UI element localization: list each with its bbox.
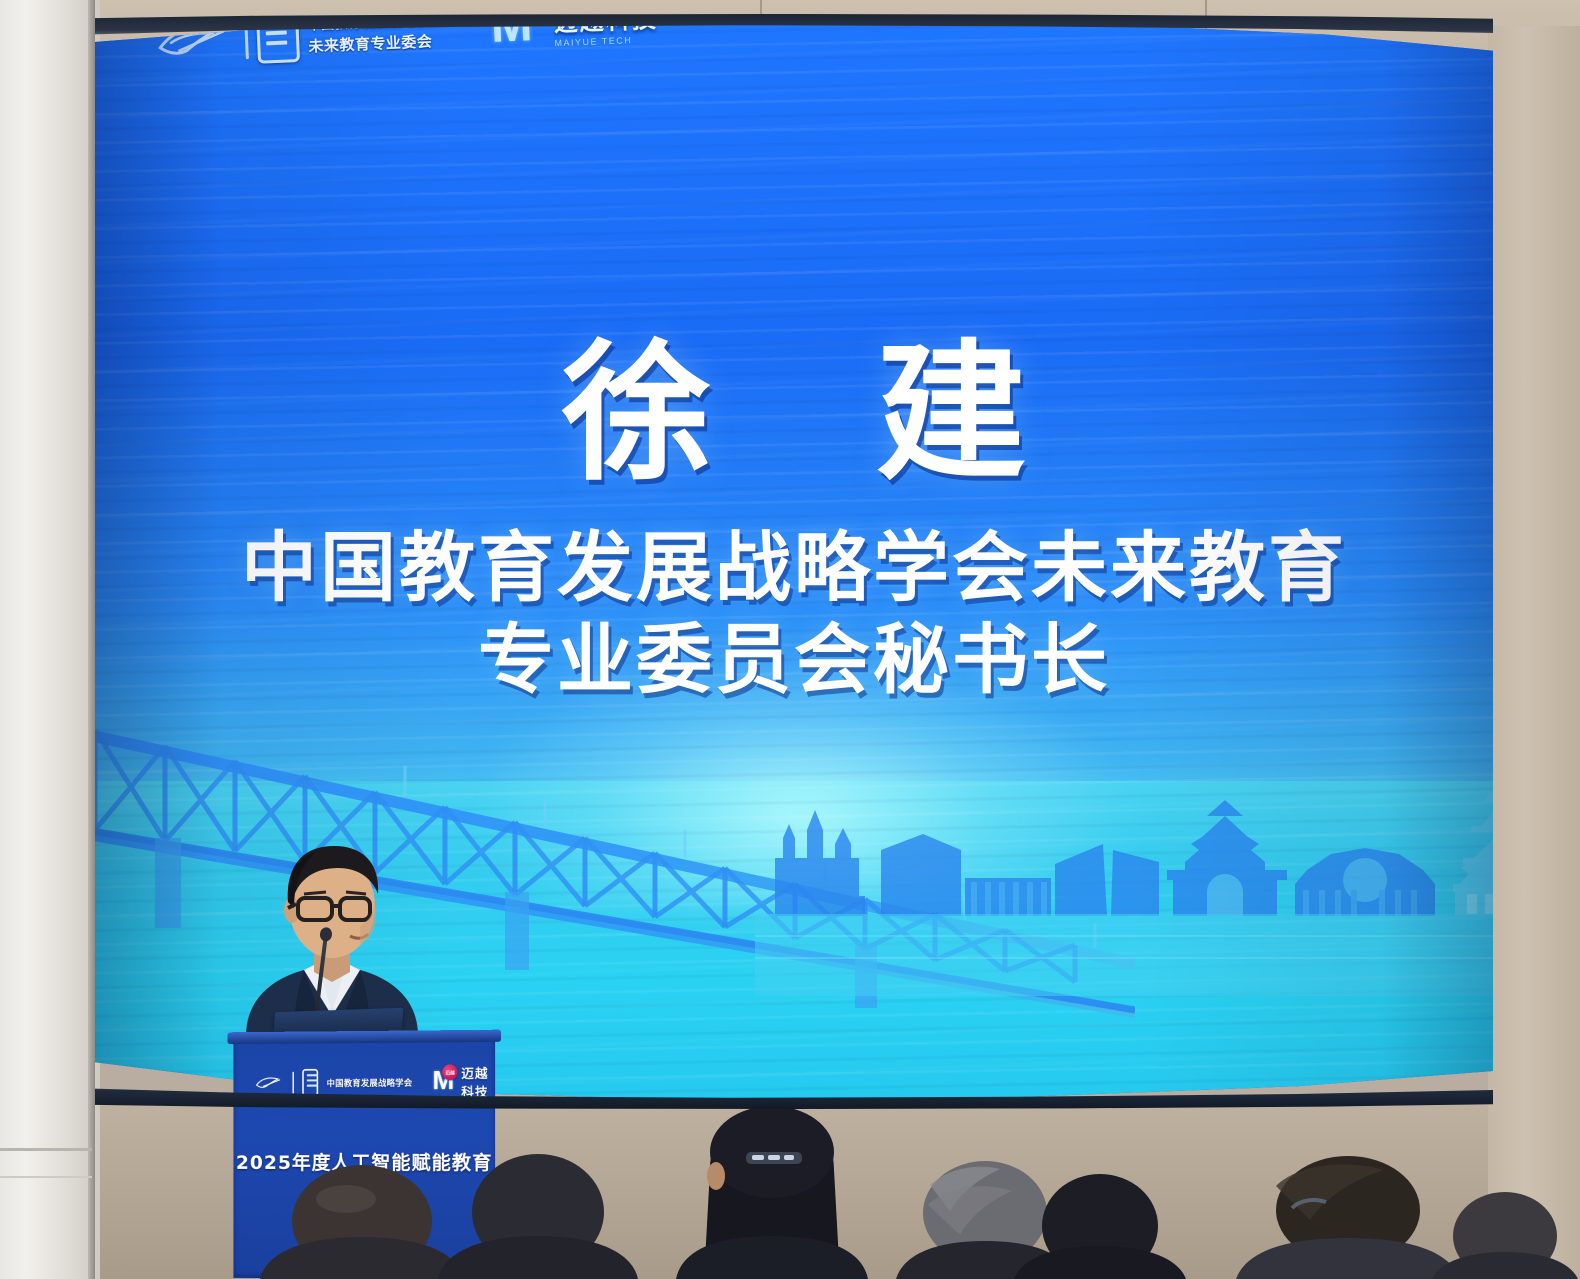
left-wall-edge (88, 0, 95, 1279)
sponsor-logo: M 迈越 迈越科技 MAIYUE TECH (490, 18, 659, 53)
podium-sponsor-name: 迈越科技 (461, 1063, 500, 1100)
audience-member (1010, 1172, 1190, 1279)
podium-wing-mark-icon (255, 1072, 284, 1093)
podium-association-name: 中国教育发展战略学会 (327, 1076, 413, 1089)
podium-logos: 中国教育发展战略学会 M 迈越 迈越科技 (255, 1063, 501, 1101)
speaker-name: 徐 建 (95, 336, 1493, 494)
association-name-line2: 未来教育专业委会 (308, 30, 444, 57)
podium-top-edge (228, 1030, 502, 1045)
right-wall-panel (1488, 26, 1580, 1279)
podium-logo-divider (293, 1072, 294, 1094)
left-wall-panel (0, 0, 100, 1279)
audience-member (1430, 1190, 1580, 1279)
city-skyline-illustration (755, 766, 1493, 996)
m-letter-mark-icon: M 迈越 (490, 18, 546, 53)
speaker-role-line1: 中国教育发展战略学会未来教育 (95, 522, 1493, 615)
audience-member-with-hairclip (668, 1100, 878, 1279)
left-wall-trim (0, 1148, 92, 1151)
sponsor-name: 迈越科技 MAIYUE TECH (553, 18, 659, 48)
podium-m-mark-icon: M 迈越 (432, 1069, 452, 1095)
podium-sponsor-badge: 迈越 (442, 1064, 458, 1080)
podium-sponsor-cn: 迈越科技 (461, 1063, 500, 1100)
conference-photo-scene: 中国教育发展战略学会 未来教育专业委会 M 迈越 迈越科技 MAIYUE TEC… (0, 0, 1580, 1279)
left-wall-trim (0, 1176, 92, 1178)
speaker-title-block: 徐 建 中国教育发展战略学会未来教育 专业委员会秘书长 (95, 336, 1493, 707)
podium-assoc-line: 中国教育发展战略学会 (327, 1076, 413, 1089)
speaker-role-line2: 专业委员会秘书长 (95, 614, 1493, 707)
podium-book-icon (302, 1069, 318, 1096)
audience-member (430, 1150, 650, 1279)
